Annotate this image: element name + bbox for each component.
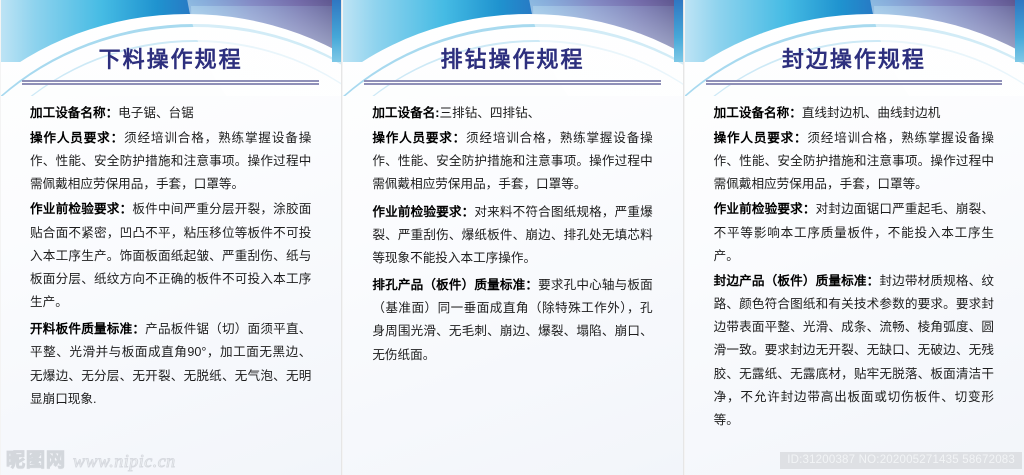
section-label: 操作人员要求： xyxy=(714,131,808,145)
section-label: 开料板件质量标准： xyxy=(30,322,145,336)
section-label: 作业前检验要求： xyxy=(714,202,816,216)
section-preinspection: 作业前检验要求：对来料不符合图纸规格，严重爆裂、严重刮伤、爆纸板件、崩边、排孔处… xyxy=(372,201,652,271)
panel-header: 下料操作规程 xyxy=(0,0,341,96)
panel-header: 封边操作规程 xyxy=(684,0,1024,96)
section-quality-standard: 封边产品（板件）质量标准：封边带材质规格、纹路、颜色符合图纸和有关技术参数的要求… xyxy=(714,270,994,432)
panel-paizuan: 排钻操作规程 加工设备名:三排钻、四排钻、 操作人员要求：须经培训合格，熟练掌握… xyxy=(341,0,682,475)
title-divider xyxy=(22,80,319,85)
section-operator: 操作人员要求：须经培训合格，熟练掌握设备操作、性能、安全防护措施和注意事项。操作… xyxy=(372,127,652,197)
section-label: 加工设备名: xyxy=(372,106,439,120)
poster-board: 下料操作规程 加工设备名称：电子锯、台锯 操作人员要求：须经培训合格，熟练掌握设… xyxy=(0,0,1024,475)
section-label: 操作人员要求： xyxy=(372,131,466,145)
panel-body: 加工设备名称：电子锯、台锯 操作人员要求：须经培训合格，熟练掌握设备操作、性能、… xyxy=(0,96,341,411)
section-label: 加工设备名称： xyxy=(714,106,802,120)
section-equipment: 加工设备名称：电子锯、台锯 xyxy=(30,102,311,125)
section-equipment: 加工设备名称：直线封边机、曲线封边机 xyxy=(714,102,994,125)
panel-title: 封边操作规程 xyxy=(684,42,1024,74)
section-text: 直线封边机、曲线封边机 xyxy=(802,106,941,120)
section-text: 板件中间严重分层开裂，涂胶面贴合面不紧密，凹凸不平，粘压移位等板件不可投入本工序… xyxy=(30,202,311,309)
section-preinspection: 作业前检验要求：板件中间严重分层开裂，涂胶面贴合面不紧密，凹凸不平，粘压移位等板… xyxy=(30,198,311,314)
section-quality-standard: 开料板件质量标准：产品板件锯（切）面须平直、平整、光滑并与板面成直角90°，加工… xyxy=(30,318,311,411)
panel-xialiao: 下料操作规程 加工设备名称：电子锯、台锯 操作人员要求：须经培训合格，熟练掌握设… xyxy=(0,0,341,475)
title-divider xyxy=(364,80,660,85)
title-divider xyxy=(706,80,1002,85)
panel-fengbian: 封边操作规程 加工设备名称：直线封边机、曲线封边机 操作人员要求：须经培训合格，… xyxy=(683,0,1024,475)
section-label: 加工设备名称： xyxy=(30,106,118,120)
section-operator: 操作人员要求：须经培训合格，熟练掌握设备操作、性能、安全防护措施和注意事项。操作… xyxy=(714,127,994,197)
section-preinspection: 作业前检验要求：对封边面锯口严重起毛、崩裂、不平等影响本工序质量板件，不能投入本… xyxy=(714,198,994,268)
section-text: 封边带材质规格、纹路、颜色符合图纸和有关技术参数的要求。要求封边带表面平整、光滑… xyxy=(714,274,994,427)
panel-title: 排钻操作规程 xyxy=(342,42,682,74)
panel-body: 加工设备名称：直线封边机、曲线封边机 操作人员要求：须经培训合格，熟练掌握设备操… xyxy=(684,96,1024,432)
section-label: 排孔产品（板件）质量标准： xyxy=(372,278,538,292)
panel-body: 加工设备名:三排钻、四排钻、 操作人员要求：须经培训合格，熟练掌握设备操作、性能… xyxy=(342,96,682,367)
section-text: 电子锯、台锯 xyxy=(118,106,194,120)
section-label: 封边产品（板件）质量标准： xyxy=(714,274,880,288)
section-label: 操作人员要求： xyxy=(30,131,124,145)
section-quality-standard: 排孔产品（板件）质量标准：要求孔中心轴与板面（基准面）同一垂面成直角（除特殊工作… xyxy=(372,274,652,367)
section-label: 作业前检验要求： xyxy=(30,202,132,216)
panel-header: 排钻操作规程 xyxy=(342,0,682,96)
section-operator: 操作人员要求：须经培训合格，熟练掌握设备操作、性能、安全防护措施和注意事项。操作… xyxy=(30,127,311,197)
section-equipment: 加工设备名:三排钻、四排钻、 xyxy=(372,102,652,125)
section-text: 三排钻、四排钻、 xyxy=(440,106,541,120)
section-label: 作业前检验要求： xyxy=(372,205,474,219)
panel-title: 下料操作规程 xyxy=(0,42,341,74)
